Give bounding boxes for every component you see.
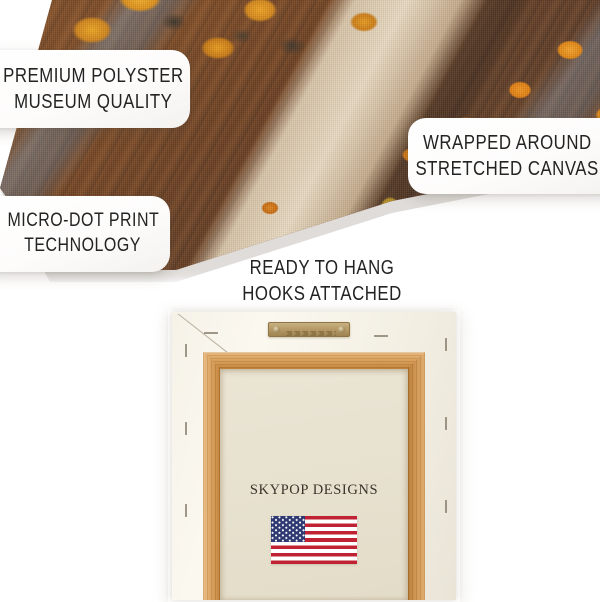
ready-heading-line2: HOOKS ATTACHED	[218, 281, 426, 307]
frame-inner-shadow	[220, 369, 408, 600]
badge-premium-line2: MUSEUM QUALITY	[14, 89, 172, 115]
badge-micro-line2: TECHNOLOGY	[25, 234, 142, 259]
staple	[445, 338, 447, 351]
staple	[445, 417, 447, 430]
product-feature-graphic: PREMIUM POLYSTER MUSEUM QUALITY WRAPPED …	[0, 0, 600, 600]
badge-premium-line1: PREMIUM POLYSTER	[3, 63, 183, 89]
staple	[185, 422, 187, 435]
hanger-screw-hole	[273, 326, 280, 333]
sawtooth-hanger-icon	[268, 322, 350, 337]
staple	[204, 332, 218, 334]
staple	[185, 344, 187, 357]
stretcher-bar-right	[408, 352, 425, 600]
stretcher-bar-left	[203, 352, 220, 600]
badge-wrapped-line2: STRETCHED CANVAS	[415, 156, 598, 182]
staple	[185, 504, 187, 517]
hanger-teeth	[284, 331, 336, 336]
staple	[445, 500, 447, 513]
wooden-stretcher-frame	[203, 352, 425, 600]
badge-micro-line1: MICRO-DOT PRINT	[7, 209, 159, 234]
stretcher-bar-top	[203, 352, 425, 369]
canvas-back-view: SKYPOP DESIGNS	[172, 312, 456, 600]
badge-wrapped-around: WRAPPED AROUND STRETCHED CANVAS	[408, 118, 600, 194]
ready-heading-line1: READY TO HANG	[218, 255, 426, 281]
badge-micro-dot-print: MICRO-DOT PRINT TECHNOLOGY	[0, 196, 170, 272]
staple	[374, 335, 388, 337]
badge-premium-polyster: PREMIUM POLYSTER MUSEUM QUALITY	[0, 50, 190, 128]
badge-wrapped-line1: WRAPPED AROUND	[423, 130, 592, 156]
hanger-screw-hole	[338, 326, 345, 333]
ready-to-hang-heading: READY TO HANG HOOKS ATTACHED	[198, 255, 446, 307]
